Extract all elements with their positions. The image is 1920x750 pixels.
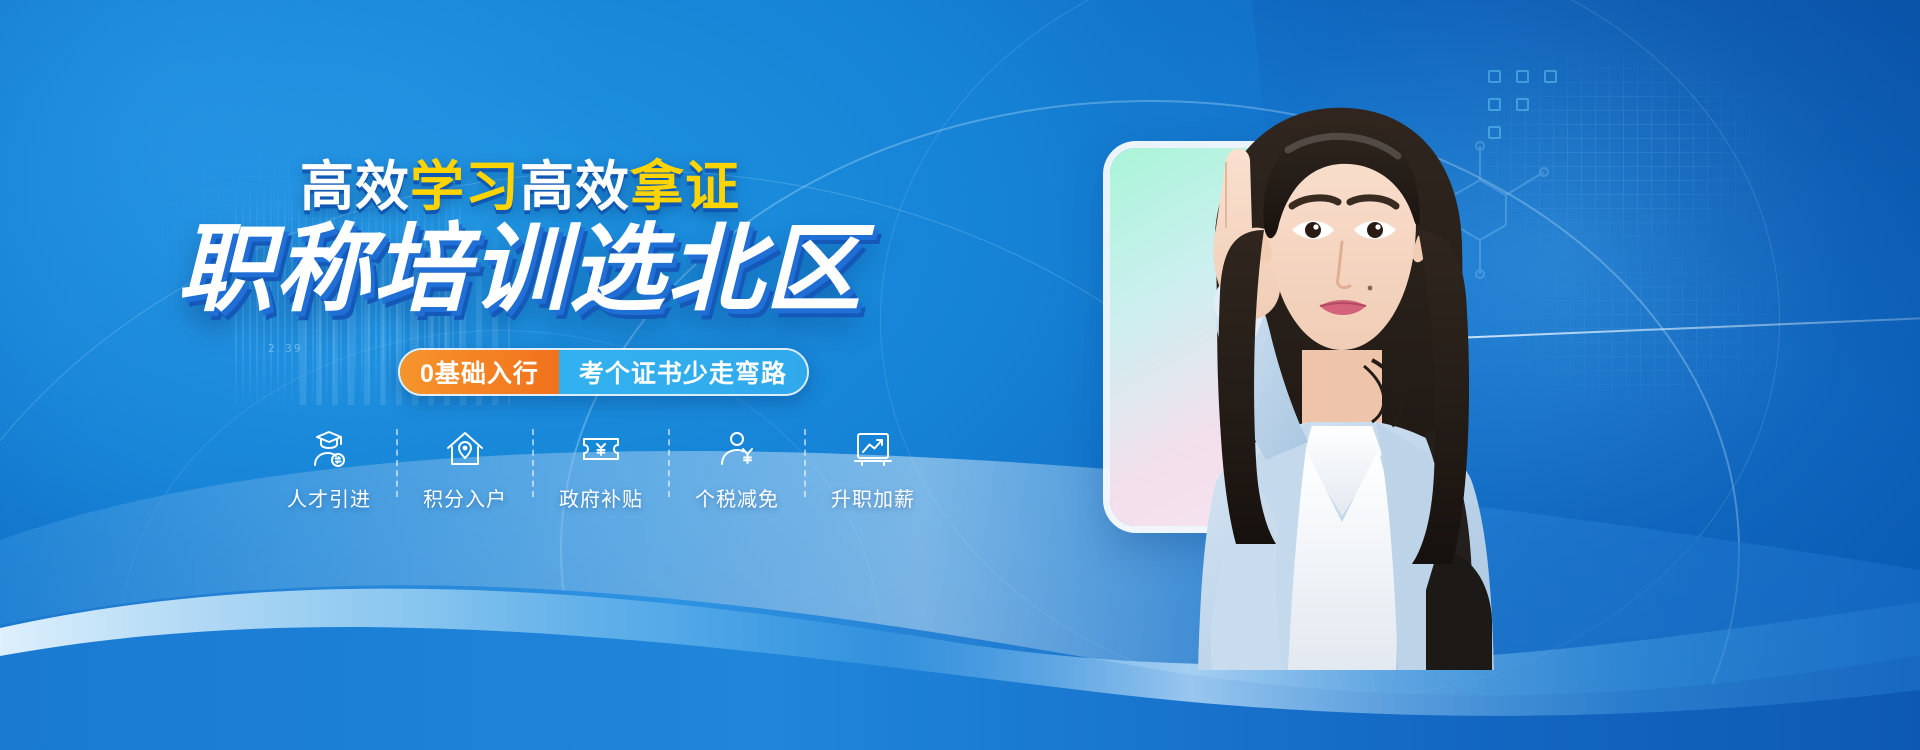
graduate-person-icon <box>307 425 351 471</box>
subline-part-3: 高效 <box>520 157 630 217</box>
feature-item-talent[interactable]: 人才引进 <box>262 425 396 512</box>
headline-text: 职称培训选北区 <box>177 216 863 323</box>
headline: 职称培训选北区 <box>0 222 1040 318</box>
subline-part-1: 高效 <box>300 157 410 217</box>
promo-banner: 2 39 <box>0 0 1920 750</box>
feature-item-tax[interactable]: 个税减免 <box>670 425 804 512</box>
house-pin-icon <box>443 425 487 471</box>
pill-right-label: 考个证书少走弯路 <box>559 350 807 394</box>
feature-label: 升职加薪 <box>831 483 915 512</box>
subline-part-4: 拿证 <box>630 157 740 217</box>
feature-label: 积分入户 <box>423 483 507 512</box>
subline: 高效学习高效拿证 <box>0 160 1040 214</box>
feature-item-residence[interactable]: 积分入户 <box>398 425 532 512</box>
feature-list: 人才引进 积分入户 <box>262 425 940 512</box>
copy-block: 高效学习高效拿证 职称培训选北区 0基础入行 考个证书少走弯路 <box>0 0 1040 750</box>
feature-label: 政府补贴 <box>559 483 643 512</box>
hero-visual <box>1020 0 1640 750</box>
person-yuan-icon <box>715 425 759 471</box>
woman-pointing-photo <box>1020 30 1640 750</box>
subline-part-2: 学习 <box>410 157 520 217</box>
feature-item-subsidy[interactable]: 政府补贴 <box>534 425 668 512</box>
tagline-pill: 0基础入行 考个证书少走弯路 <box>398 348 809 396</box>
ticket-yuan-icon <box>579 425 623 471</box>
feature-label: 人才引进 <box>287 483 371 512</box>
chart-board-icon <box>851 425 895 471</box>
feature-label: 个税减免 <box>695 483 779 512</box>
pill-left-label: 0基础入行 <box>400 350 559 394</box>
feature-item-promotion[interactable]: 升职加薪 <box>806 425 940 512</box>
